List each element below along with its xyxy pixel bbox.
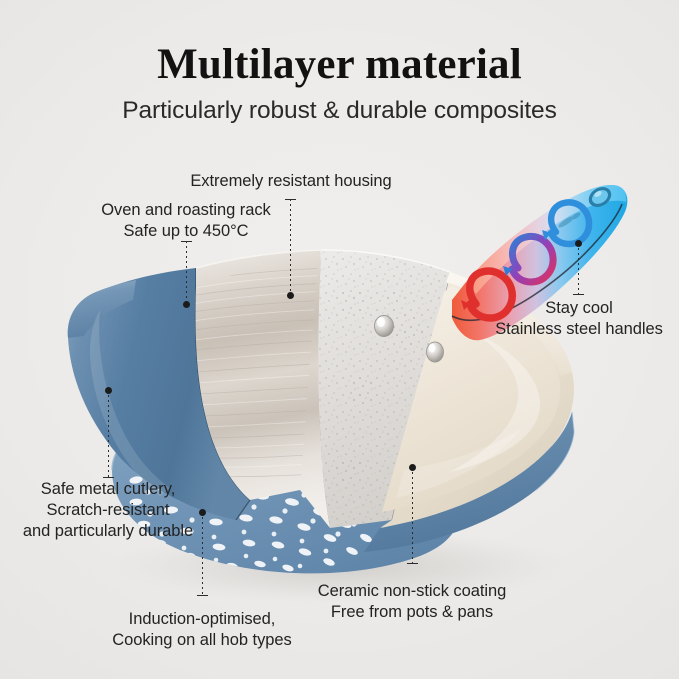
callout-line: Ceramic non-stick coating bbox=[318, 581, 507, 602]
callout-line: Free from pots & pans bbox=[318, 602, 507, 623]
leader-line-oven bbox=[186, 241, 187, 305]
leader-line-induction bbox=[202, 512, 203, 596]
rivet-upper bbox=[375, 316, 394, 337]
leader-line-cutlery bbox=[108, 390, 109, 478]
callout-line: Extremely resistant housing bbox=[190, 171, 391, 192]
leader-tick bbox=[407, 563, 418, 564]
leader-line-housing bbox=[290, 199, 291, 296]
callout-stay-cool-handles: Stay cool Stainless steel handles bbox=[495, 298, 663, 340]
callout-line: Cooking on all hob types bbox=[112, 630, 292, 651]
leader-tick bbox=[103, 477, 114, 478]
leader-tick bbox=[197, 595, 208, 596]
leader-tick bbox=[285, 199, 296, 200]
callout-line: Safe metal cutlery, bbox=[23, 479, 193, 500]
callout-ceramic-coating: Ceramic non-stick coating Free from pots… bbox=[318, 581, 507, 623]
callout-line: and particularly durable bbox=[23, 521, 193, 542]
callout-resistant-housing: Extremely resistant housing bbox=[190, 171, 391, 192]
callout-induction-optimised: Induction-optimised, Cooking on all hob … bbox=[112, 609, 292, 651]
callout-line: Stainless steel handles bbox=[495, 319, 663, 340]
callout-line: Oven and roasting rack bbox=[101, 200, 271, 221]
leader-line-handles bbox=[578, 243, 579, 295]
rivet-lower bbox=[427, 342, 444, 362]
callout-line: Induction-optimised, bbox=[112, 609, 292, 630]
callout-oven-roasting-rack: Oven and roasting rack Safe up to 450°C bbox=[101, 200, 271, 242]
callout-line: Safe up to 450°C bbox=[101, 221, 271, 242]
callout-line: Scratch-resistant bbox=[23, 500, 193, 521]
leader-tick bbox=[573, 294, 584, 295]
callout-line: Stay cool bbox=[495, 298, 663, 319]
leader-line-ceramic bbox=[412, 467, 413, 564]
infographic-canvas: Multilayer material Particularly robust … bbox=[0, 0, 679, 679]
callout-safe-metal-cutlery: Safe metal cutlery, Scratch-resistant an… bbox=[23, 479, 193, 542]
